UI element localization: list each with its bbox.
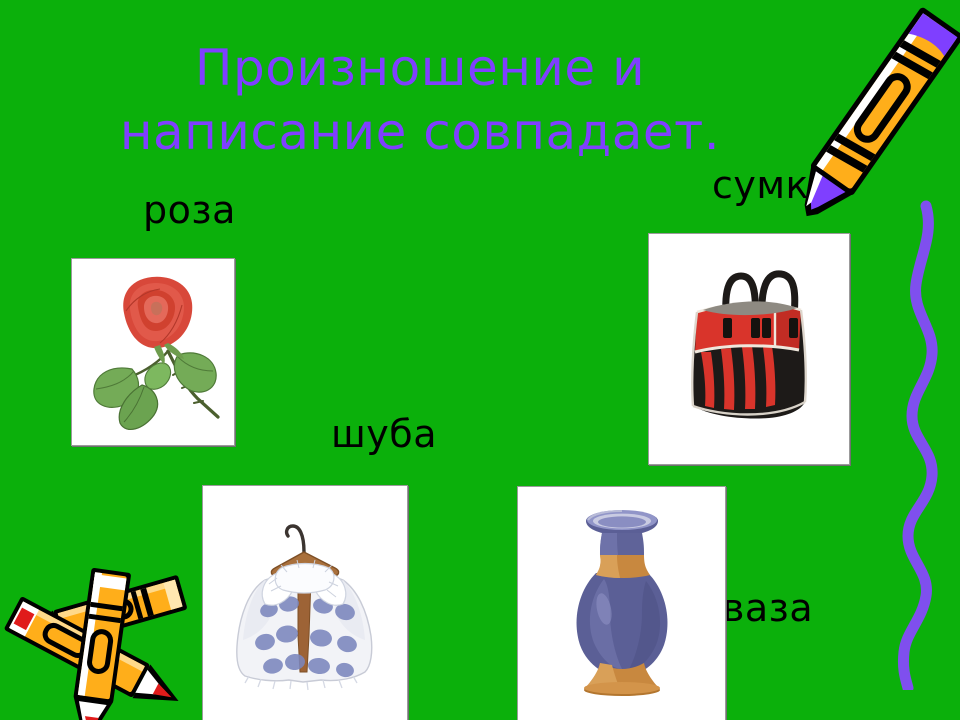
- rose-icon: [72, 259, 234, 445]
- page-title: Произношение и написание совпадает.: [70, 36, 770, 164]
- caption-shuba: шуба: [331, 412, 437, 456]
- picture-card-coat: [202, 485, 408, 720]
- picture-card-vase: [517, 486, 726, 720]
- squiggle-line-icon: [878, 200, 960, 690]
- caption-roza: роза: [143, 188, 236, 232]
- caption-vaza: ваза: [722, 586, 813, 630]
- slide-canvas: Произношение и написание совпадает. роза…: [0, 0, 960, 720]
- picture-card-rose: [71, 258, 235, 446]
- crossed-pencils-icon: [0, 560, 206, 720]
- bag-icon: [649, 234, 849, 464]
- caption-sumka: сумка: [712, 163, 833, 207]
- vase-icon: [518, 487, 725, 720]
- fur-coat-icon: [203, 486, 407, 720]
- picture-card-bag: [648, 233, 850, 465]
